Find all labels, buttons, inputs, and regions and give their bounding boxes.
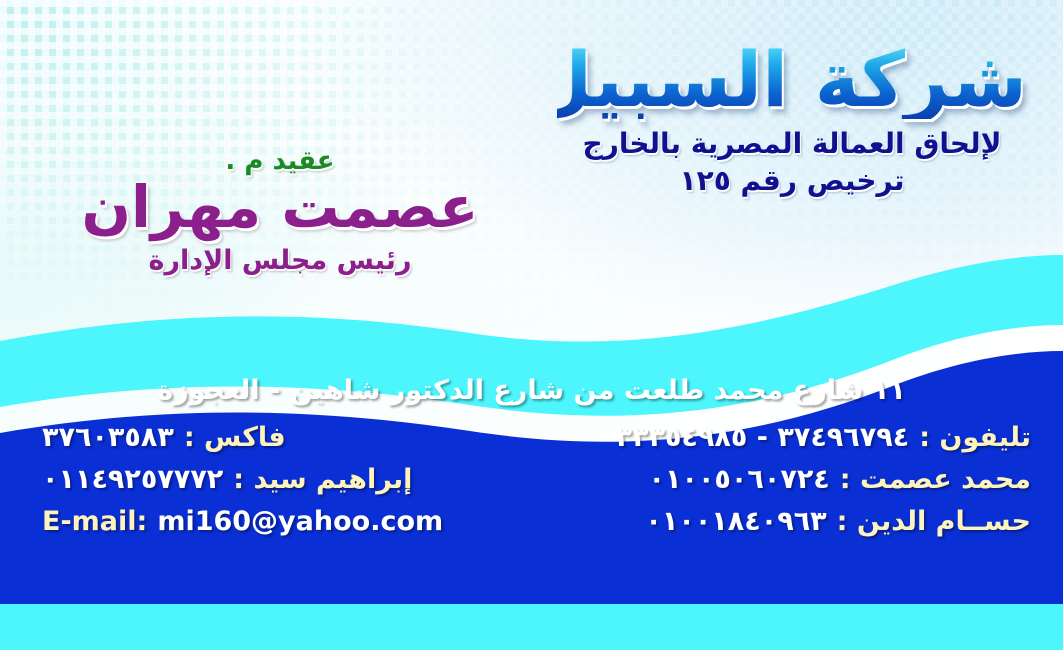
mobile-entry-hossam-eldin[interactable]: حســام الدين : ٠١٠٠١٨٤٠٩٦٣ <box>645 506 1035 537</box>
phone-entry[interactable]: تليفون : ٣٧٤٩٦٧٩٤ - ٣٣٣٥٤٩٨٥ <box>616 422 1036 453</box>
business-card: شركة السبيل لإلحاق العمالة المصرية بالخا… <box>0 0 1063 650</box>
mobile-entry-ibrahim-sayed[interactable]: إبراهيم سيد : ٠١١٤٩٢٥٧٧٧٢ <box>28 464 412 495</box>
contact-row: حســام الدين : ٠١٠٠١٨٤٠٩٦٣ E-mail: mi160… <box>28 506 1035 537</box>
mobile-entry-mohamed-esmat[interactable]: محمد عصمت : ٠١٠٠٥٠٦٠٧٢٤ <box>649 464 1035 495</box>
contact-row: تليفون : ٣٧٤٩٦٧٩٤ - ٣٣٣٥٤٩٨٥ فاكس : ٣٧٦٠… <box>28 422 1035 453</box>
person-job-title: رئيس مجلس الإدارة <box>60 246 500 276</box>
fax-label: فاكس : <box>184 422 286 453</box>
person-name: عصمت مهران <box>60 176 500 240</box>
mobile-label-mohamed-esmat: محمد عصمت : <box>840 464 1031 495</box>
person-block: عقيد م . عصمت مهران رئيس مجلس الإدارة <box>60 148 500 275</box>
mobile-label-ibrahim-sayed: إبراهيم سيد : <box>233 464 412 495</box>
contact-section: ١١ شارع محمد طلعت من شارع الدكتور شاهين … <box>0 375 1063 590</box>
contact-rows: تليفون : ٣٧٤٩٦٧٩٤ - ٣٣٣٥٤٩٨٥ فاكس : ٣٧٦٠… <box>28 422 1035 537</box>
mobile-value-mohamed-esmat: ٠١٠٠٥٠٦٠٧٢٤ <box>649 464 830 495</box>
person-rank: عقيد م . <box>60 148 500 174</box>
mobile-label-hossam-eldin: حســام الدين : <box>837 506 1031 537</box>
email-entry[interactable]: E-mail: mi160@yahoo.com <box>28 506 443 537</box>
fax-entry[interactable]: فاكس : ٣٧٦٠٣٥٨٣ <box>28 422 286 453</box>
fax-value: ٣٧٦٠٣٥٨٣ <box>42 422 174 453</box>
company-tagline: لإلحاق العمالة المصرية بالخارج <box>557 127 1027 160</box>
bottom-accent-strip <box>0 604 1063 650</box>
email-value: mi160@yahoo.com <box>157 506 443 537</box>
mobile-value-hossam-eldin: ٠١٠٠١٨٤٠٩٦٣ <box>645 506 826 537</box>
company-license-number: ترخيص رقم ١٢٥ <box>557 164 1027 197</box>
address-line: ١١ شارع محمد طلعت من شارع الدكتور شاهين … <box>28 375 1035 406</box>
phone-label: تليفون : <box>919 422 1031 453</box>
company-logo-block: شركة السبيل لإلحاق العمالة المصرية بالخا… <box>557 40 1027 197</box>
email-label: E-mail: <box>42 506 147 537</box>
company-name: شركة السبيل <box>557 40 1027 119</box>
contact-row: محمد عصمت : ٠١٠٠٥٠٦٠٧٢٤ إبراهيم سيد : ٠١… <box>28 464 1035 495</box>
mobile-value-ibrahim-sayed: ٠١١٤٩٢٥٧٧٧٢ <box>42 464 223 495</box>
phone-value: ٣٧٤٩٦٧٩٤ - ٣٣٣٥٤٩٨٥ <box>616 422 910 453</box>
